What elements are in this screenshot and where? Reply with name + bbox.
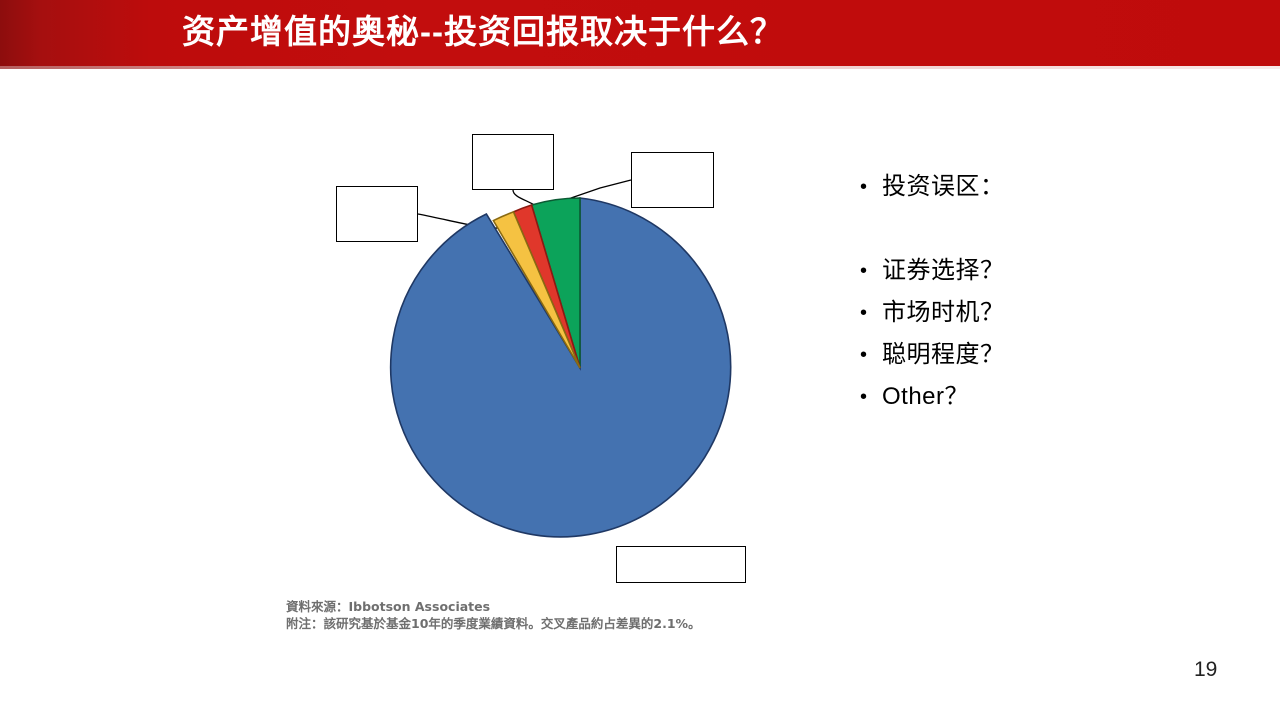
bullet-label: 投资误区： — [882, 166, 1005, 208]
callout-top[interactable] — [472, 134, 554, 190]
bullet-list: • 投资误区： • 证券选择？ • 市场时机？ • 聪明程度？ • Other？ — [852, 166, 1252, 418]
callout-bottom[interactable] — [616, 546, 746, 583]
page-number: 19 — [1194, 658, 1217, 682]
callout-left[interactable] — [336, 186, 418, 242]
bullet-dot-icon: • — [852, 166, 882, 208]
list-item: • 投资误区： — [852, 166, 1252, 208]
pie-chart-figure — [0, 66, 800, 666]
bullet-label: Other？ — [882, 376, 969, 418]
bullet-dot-icon: • — [852, 292, 882, 334]
list-item: • 聪明程度？ — [852, 334, 1252, 376]
bullet-dot-icon: • — [852, 250, 882, 292]
bullet-label: 证券选择？ — [882, 250, 1005, 292]
page-title: 资产增值的奥秘--投资回报取决于什么？ — [182, 9, 784, 55]
source-note: 資料來源：Ibbotson Associates 附注：該研究基於基金10年的季… — [286, 598, 806, 632]
bullet-label: 聪明程度？ — [882, 334, 1005, 376]
callout-right[interactable] — [631, 152, 714, 208]
list-item: • 证券选择？ — [852, 250, 1252, 292]
list-item: • Other？ — [852, 376, 1252, 418]
list-item: • 市场时机？ — [852, 292, 1252, 334]
bullet-dot-icon: • — [852, 376, 882, 418]
slide-title-bar: 资产增值的奥秘--投资回报取决于什么？ — [0, 0, 1280, 66]
source-note-line-2: 附注：該研究基於基金10年的季度業績資料。交叉產品約占差異的2.1%。 — [286, 615, 806, 632]
bullet-dot-icon: • — [852, 334, 882, 376]
list-item-spacer — [852, 208, 1252, 250]
source-note-line-1: 資料來源：Ibbotson Associates — [286, 598, 806, 615]
bullet-label: 市场时机？ — [882, 292, 1005, 334]
